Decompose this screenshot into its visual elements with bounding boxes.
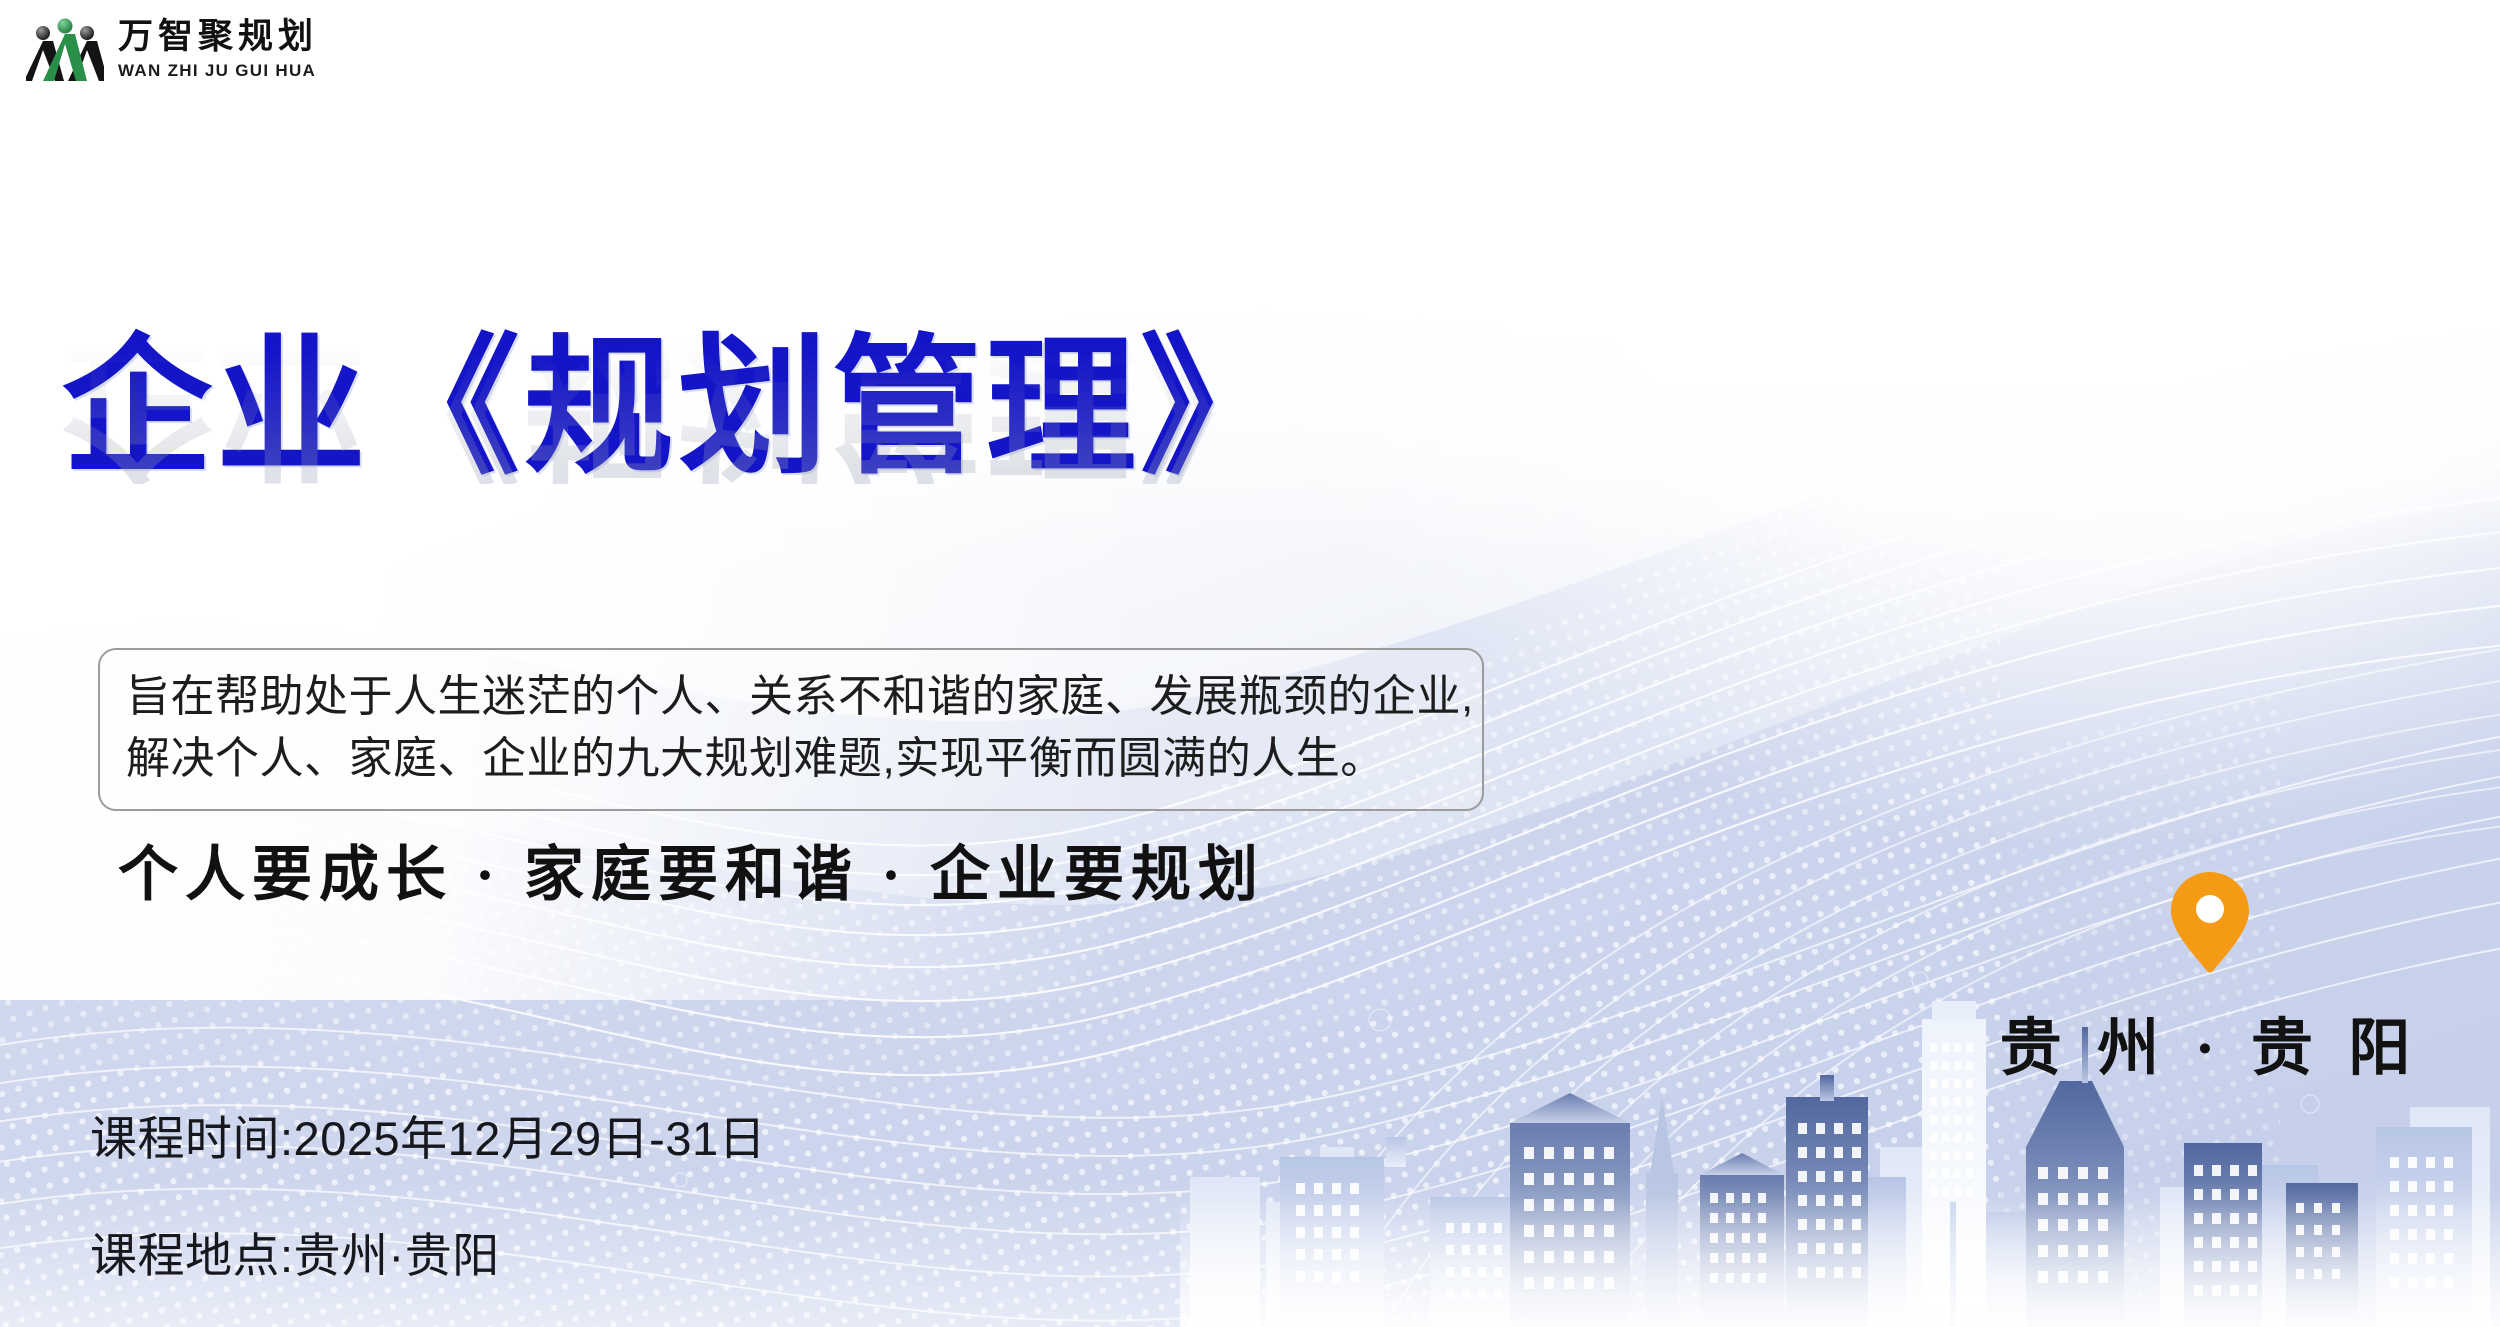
- brand-text: 万智聚规划 WAN ZHI JU GUI HUA: [118, 19, 318, 79]
- headline-block: 企业《规划管理》 企业《规划管理》: [62, 332, 1294, 634]
- brand-name-pinyin: WAN ZHI JU GUI HUA: [118, 62, 318, 79]
- course-time: 课程时间:2025年12月29日-31日: [90, 1100, 766, 1169]
- description-line-1: 旨在帮助处于人生迷茫的个人、关系不和谐的家庭、发展瓶颈的企业,: [126, 666, 1460, 728]
- location-name: 贵 州 · 贵 阳: [1960, 997, 2460, 1087]
- description-box: 旨在帮助处于人生迷茫的个人、关系不和谐的家庭、发展瓶颈的企业, 解决个人、家庭、…: [98, 648, 1484, 811]
- description-line-2: 解决个人、家庭、企业的九大规划难题,实现平衡而圆满的人生。: [126, 728, 1460, 790]
- location-block: 贵 州 · 贵 阳: [1960, 870, 2460, 1087]
- course-place: 课程地点:贵州·贵阳: [90, 1217, 766, 1286]
- poster-canvas: 万智聚规划 WAN ZHI JU GUI HUA 企业《规划管理》 企业《规划管…: [0, 0, 2500, 1327]
- three-people-logo-icon: [26, 14, 104, 84]
- course-info-block: 课程时间:2025年12月29日-31日 课程地点:贵州·贵阳: [90, 1100, 766, 1286]
- brand-name-cn: 万智聚规划: [118, 19, 318, 54]
- page-title-reflection: 企业《规划管理》: [62, 334, 1294, 484]
- slogan-text: 个人要成长 · 家庭要和谐 · 企业要规划: [118, 826, 1265, 913]
- map-pin-icon: [2169, 870, 2251, 974]
- brand-logo[interactable]: 万智聚规划 WAN ZHI JU GUI HUA: [26, 14, 318, 84]
